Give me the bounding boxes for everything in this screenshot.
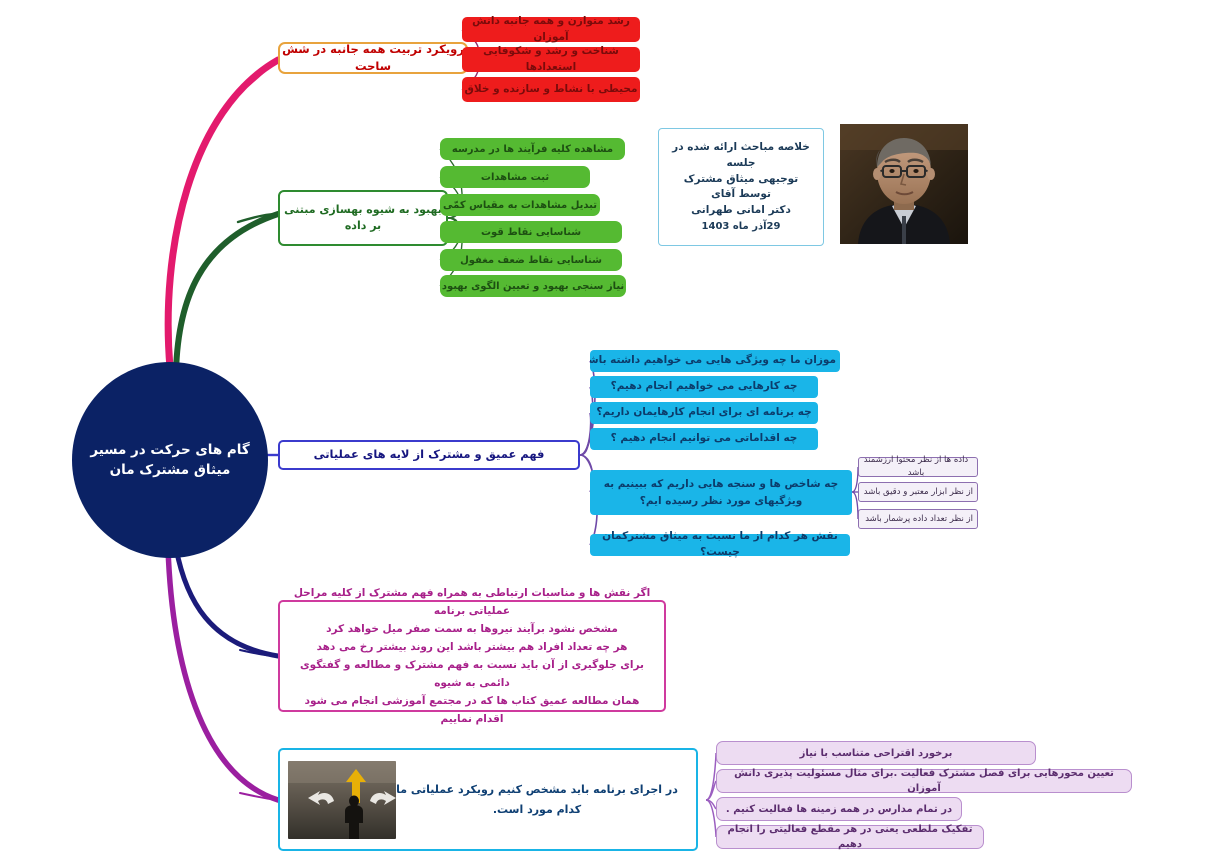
branch-blue-parent[interactable]: فهم عمیق و مشترک از لایه های عملیاتی [278, 440, 580, 470]
link-blue-child-3 [580, 439, 590, 455]
link-central-to-green-taper [238, 214, 278, 222]
link-violet-child-2 [706, 800, 716, 809]
branch-green-child-0[interactable]: مشاهده کلیه فرآیند ها در مدرسه [440, 138, 625, 160]
link-violet-child-3 [706, 800, 716, 837]
summary-line-3: دکتر امانی طهرانی [691, 203, 791, 219]
branch-cyan-bottom-box[interactable]: در اجرای برنامه باید مشخص کنیم رویکرد عم… [278, 748, 698, 851]
summary-date: 29آذر ماه 1403 [702, 219, 781, 234]
link-central-to-green [176, 214, 278, 372]
summary-line-1: خلاصه مباحث ارائه شده در جلسه [667, 140, 815, 172]
branch-magenta-box[interactable]: اگر نقش ها و مناسبات ارتباطی به همراه فه… [278, 600, 666, 712]
branch-green-child-5[interactable]: نیاز سنجی بهبود و تعیین الگوی بهبود [440, 275, 626, 297]
speaker-portrait-photo [840, 124, 968, 244]
magenta-line-2: هر چه تعداد افراد هم بیشتر باشد این روند… [290, 638, 654, 656]
session-summary-box: خلاصه مباحث ارائه شده در جلسه توجیهی میث… [658, 128, 824, 246]
cyan-bottom-child-3[interactable]: تفکیک ملطعی یعنی در هر مقطع فعالیتی را ا… [716, 825, 984, 849]
branch-orange-child-1[interactable]: شناخت و رشد و شکوفایی استعدادها [462, 47, 640, 72]
branch-orange-child-2[interactable]: محیطی با نشاط و سازنده و خلاق [462, 77, 640, 102]
branch-green-child-3[interactable]: شناسایی نقاط قوت [440, 221, 622, 243]
blue-sub-child-2[interactable]: از نظر تعداد داده پرشمار باشد [858, 509, 978, 529]
magenta-line-4: همان مطالعه عمیق کتاب ها که در مجتمع آمو… [290, 692, 654, 728]
branch-blue-child-3[interactable]: چه اقداماتی می توانیم انجام دهیم ؟ [590, 428, 818, 450]
branch-blue-child-2[interactable]: چه برنامه ای برای انجام کارهایمان داریم؟ [590, 402, 818, 424]
cyan-bottom-text: در اجرای برنامه باید مشخص کنیم رویکرد عم… [396, 780, 684, 820]
link-central-to-magenta-taper [240, 650, 278, 656]
central-node[interactable]: گام های حرکت در مسیر میثاق مشترک مان [72, 362, 268, 558]
portrait-illustration [840, 124, 968, 244]
crossroads-image [288, 761, 396, 839]
link-central-to-magenta [176, 548, 278, 656]
mindmap-canvas: گام های حرکت در مسیر میثاق مشترک مان روی… [0, 0, 1222, 864]
magenta-line-0: اگر نقش ها و مناسبات ارتباطی به همراه فه… [290, 584, 654, 620]
branch-green-child-2[interactable]: تبدیل مشاهدات به مقیاس کمّی [440, 194, 600, 216]
branch-green-child-1[interactable]: ثبت مشاهدات [440, 166, 590, 188]
summary-line-2: توجیهی میثاق مشترک توسط آقای [667, 172, 815, 204]
cyan-bottom-child-2[interactable]: در تمام مدارس در همه زمینه ها فعالیت کنی… [716, 797, 962, 821]
link-central-to-cyan-bottom [168, 548, 278, 800]
branch-green-parent[interactable]: بهبود به شیوه بهسازی مبتنی بر داده [278, 190, 448, 246]
branch-blue-child-1[interactable]: چه کارهایی می خواهیم انجام دهیم؟ [590, 376, 818, 398]
cyan-bottom-child-1[interactable]: تعیین محورهایی برای فصل مشترک فعالیت .بر… [716, 769, 1132, 793]
blue-sub-child-0[interactable]: داده ها از نظر محتوا ارزشمند باشد [858, 457, 978, 477]
branch-orange-child-0[interactable]: رشد متوازن و همه جانبه دانش آموزان [462, 17, 640, 42]
cyan-bottom-child-0[interactable]: برخورد اقتراحی متناسب با نیاز [716, 741, 1036, 765]
link-central-to-orange-taper [240, 60, 278, 92]
branch-orange-parent[interactable]: رویکرد تربیت همه جانبه در شش ساحت [278, 42, 468, 74]
magenta-line-3: برای جلوگیری از آن باید نسبت به فهم مشتر… [290, 656, 654, 692]
link-central-to-orange [168, 60, 278, 368]
link-central-to-cyan-bottom-taper [240, 793, 278, 800]
branch-blue-child-4[interactable]: چه شاخص ها و سنجه هایی داریم که ببینیم ب… [590, 470, 852, 515]
branch-green-child-4[interactable]: شناسایی نقاط ضعف مغفول [440, 249, 622, 271]
branch-blue-child-0[interactable]: موزان ما چه ویژگی هایی می خواهیم داشته ب… [590, 350, 840, 372]
link-violet-child-0 [706, 753, 716, 800]
blue-sub-child-1[interactable]: از نظر ابزار معتبر و دقیق باشد [858, 482, 978, 502]
central-node-line-2: میثاق مشترک مان [90, 460, 249, 480]
branch-blue-child-5[interactable]: نقش هر کدام از ما نسبت به میثاق مشترکمان… [590, 534, 850, 556]
link-violet-child-1 [706, 781, 716, 800]
central-node-line-1: گام های حرکت در مسیر [90, 440, 249, 460]
crossroads-illustration [288, 761, 396, 839]
magenta-line-1: مشخص نشود برآیند نیروها به سمت صفر میل خ… [290, 620, 654, 638]
